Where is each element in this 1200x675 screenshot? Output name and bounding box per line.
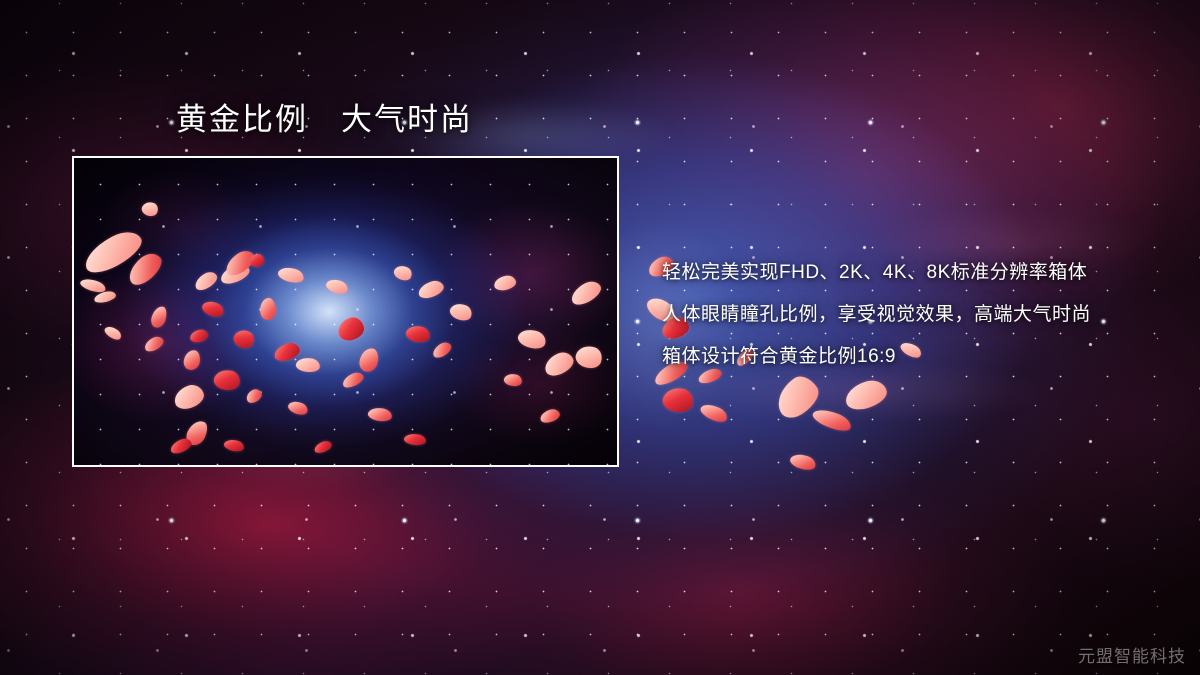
- body-text-block: 轻松完美实现FHD、2K、4K、8K标准分辨率箱体 人体眼睛瞳孔比例，享受视觉效…: [662, 252, 1182, 378]
- body-line-1: 轻松完美实现FHD、2K、4K、8K标准分辨率箱体: [662, 252, 1182, 294]
- framed-image: [72, 156, 619, 467]
- petal: [661, 385, 695, 415]
- petal: [842, 377, 890, 414]
- inset-starfield-icon: [74, 158, 617, 465]
- petal: [769, 371, 824, 424]
- watermark-text: 元盟智能科技: [1078, 642, 1186, 667]
- petal: [788, 451, 817, 472]
- petal: [810, 405, 853, 435]
- body-line-3: 箱体设计符合黄金比例16:9: [662, 336, 1182, 378]
- page-title: 黄金比例 大气时尚: [176, 100, 473, 140]
- presentation-slide: 黄金比例 大气时尚 轻松完美实现FHD、2K、4K、8K标准分辨率箱体 人体眼睛…: [0, 0, 1200, 675]
- petal: [698, 401, 729, 426]
- body-line-2: 人体眼睛瞳孔比例，享受视觉效果，高端大气时尚: [662, 294, 1182, 336]
